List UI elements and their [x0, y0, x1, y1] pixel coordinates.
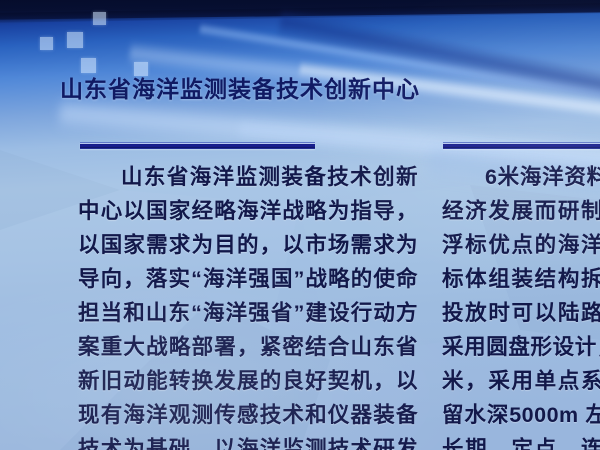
decorative-square: [93, 12, 106, 25]
divider-right: [443, 142, 600, 149]
decorative-square: [40, 37, 53, 50]
text-column-left: 山东省海洋监测装备技术创新中心以国家经略海洋战略为指导，以国家需求为目的，以市场…: [78, 160, 418, 450]
text-column-right: 6米海洋资料浮标是为海洋经济发展而研制的，具有大型浮标优点的海洋资料浮标。浮标体…: [442, 160, 600, 450]
board-title: 山东省海洋监测装备技术创新中心: [60, 74, 420, 105]
divider-left: [80, 142, 315, 149]
decorative-square: [67, 32, 83, 48]
display-board: 山东省海洋监测装备技术创新中心 山东省海洋监测装备技术创新中心以国家经略海洋战略…: [0, 0, 600, 450]
decorative-square: [81, 58, 96, 73]
